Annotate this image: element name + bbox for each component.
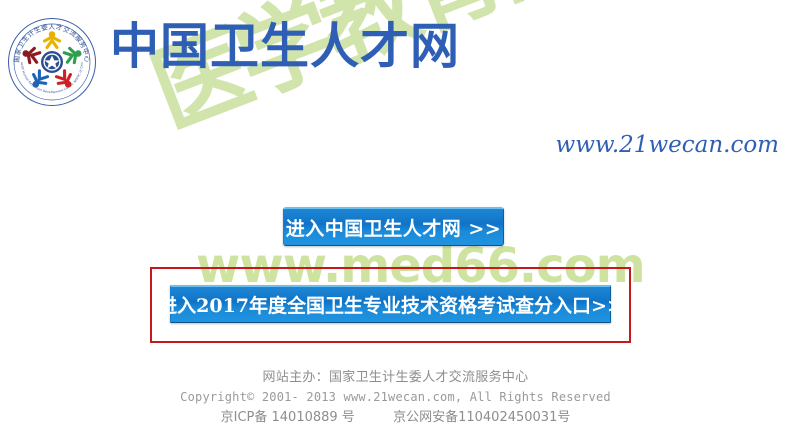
footer-copyright: Copyright© 2001- 2013 www.21wecan.com, A… bbox=[0, 387, 791, 407]
page-header: 国家卫生计生委人才交流服务中心 Health Human Resources D… bbox=[0, 0, 791, 112]
site-logo-emblem-icon: 国家卫生计生委人才交流服务中心 Health Human Resources D… bbox=[7, 17, 97, 107]
page-footer: 网站主办：国家卫生计生委人才交流服务中心 Copyright© 2001- 20… bbox=[0, 368, 791, 428]
page-title: 中国卫生人才网 bbox=[110, 20, 460, 74]
exam-score-entry-button[interactable]: 进入2017年度全国卫生专业技术资格考试查分入口>> bbox=[170, 285, 611, 323]
site-url-text: www.21wecan.com bbox=[556, 132, 779, 158]
footer-icp-record[interactable]: 京ICP备 14010889 号 bbox=[221, 410, 355, 425]
enter-site-button[interactable]: 进入中国卫生人才网 >> bbox=[283, 207, 504, 246]
footer-host-line: 网站主办：国家卫生计生委人才交流服务中心 bbox=[0, 368, 791, 387]
footer-police-record[interactable]: 京公网安备110402450031号 bbox=[393, 410, 570, 425]
footer-records: 京ICP备 14010889 号 京公网安备110402450031号 bbox=[0, 407, 791, 428]
page-root: 医学教育网 www.med66.com 国家卫生计生委人才交流服务中心 Heal… bbox=[0, 0, 791, 440]
